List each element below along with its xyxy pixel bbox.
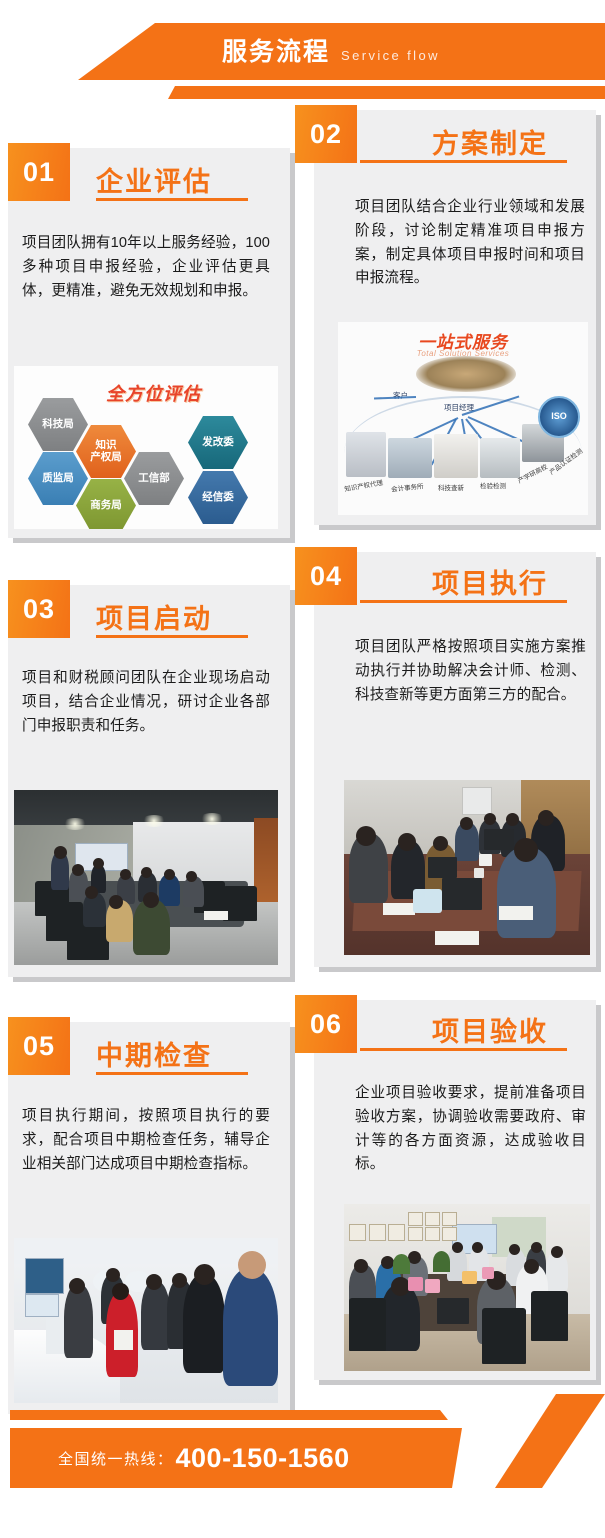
hex-label: 质监局	[42, 473, 74, 485]
hex-node-fagai-wei: 发改委	[188, 416, 248, 469]
hex-label: 工信部	[138, 473, 170, 485]
step-title-01: 企业评估	[96, 160, 212, 199]
step-number-badge-02: 02	[295, 105, 357, 163]
step-number-badge-06: 06	[295, 995, 357, 1053]
page-subtitle: Service flow	[341, 33, 440, 79]
page-header: 服务流程 Service flow	[0, 0, 605, 108]
step-body-03: 项目和财税顾问团队在企业现场启动项目，结合企业情况，研讨企业各部门申报职责和任务…	[22, 667, 270, 738]
hex-node-zhijian-ju: 质监局	[28, 452, 88, 505]
hotline-label: 全国统一热线：	[58, 1448, 174, 1469]
step-body-02: 项目团队结合企业行业领域和发展阶段，讨论制定精准项目申报方案，制定具体项目申报时…	[355, 196, 585, 291]
hex-label: 科技局	[42, 419, 74, 431]
step-body-06: 企业项目验收要求，提前准备项目验收方案，协调验收需要政府、审计等的各方面资源，达…	[355, 1082, 586, 1177]
conference-room-kickoff-photo	[14, 790, 278, 965]
title-underline-02	[360, 160, 567, 163]
node-tech-novelty-search	[434, 434, 478, 478]
meeting-hub-photo	[416, 356, 516, 392]
title-underline-01	[96, 198, 248, 201]
hex-node-gongxin-bu: 工信部	[124, 452, 184, 505]
oss-caption-novelty-search: 科技查新	[438, 482, 464, 492]
hex-node-keji-ju: 科技局	[28, 398, 88, 451]
node-inspection-testing	[480, 438, 520, 478]
step-body-05: 项目执行期间，按照项目执行的要求，配合项目中期检查任务，辅导企业相关部门达成项目…	[22, 1105, 270, 1176]
iso-certification-seal-icon: ISO	[538, 396, 580, 438]
step-body-04: 项目团队严格按照项目实施方案推动执行并协助解决会计师、检测、科技查新等更方面第三…	[355, 636, 586, 707]
node-accounting-firm	[388, 438, 432, 478]
page-footer: 全国统一热线： 400-150-1560	[0, 1410, 605, 1502]
footer-accent-bar	[10, 1410, 605, 1420]
header-orange-accent-bar	[0, 86, 605, 99]
step-number-badge-01: 01	[8, 143, 70, 201]
title-underline-05	[96, 1072, 248, 1075]
hex-node-jingxin-wei: 经信委	[188, 471, 248, 524]
node-ip-agency	[346, 432, 386, 477]
header-title-group: 服务流程 Service flow	[222, 29, 440, 75]
team-working-laptops-photo	[344, 780, 590, 955]
hex-label: 知识产权局	[90, 440, 122, 463]
step-title-05: 中期检查	[96, 1034, 212, 1073]
one-stop-service-diagram: 一站式服务 Total Solution Services 客户 项目经理 IS…	[338, 322, 588, 515]
hex-node-zhishi-chanquan-ju: 知识产权局	[76, 425, 136, 478]
hotline-number: 400-150-1560	[176, 1443, 350, 1474]
step-number-badge-05: 05	[8, 1017, 70, 1075]
step-title-02: 方案制定	[432, 122, 548, 161]
step-body-01: 项目团队拥有10年以上服务经验，100多种项目申报经验，企业评估更具体，更精准，…	[22, 232, 270, 303]
title-underline-06	[360, 1048, 567, 1051]
hex-label: 发改委	[202, 437, 234, 449]
hex-label: 商务局	[90, 500, 122, 512]
service-flow-infographic: 服务流程 Service flow 01 企业评估 项目团队拥有10年以上服务经…	[0, 0, 605, 1538]
title-underline-03	[96, 635, 248, 638]
step-title-06: 项目验收	[432, 1010, 548, 1049]
step-number-badge-03: 03	[8, 580, 70, 638]
boardroom-acceptance-meeting-photo	[344, 1204, 590, 1371]
hex-node-shangwu-ju: 商务局	[76, 479, 136, 529]
step-title-04: 项目执行	[432, 562, 548, 601]
showroom-group-discussion-photo	[14, 1238, 278, 1403]
step-number-badge-04: 04	[295, 547, 357, 605]
oss-caption-inspection: 检验检测	[480, 480, 506, 490]
hotline-group: 全国统一热线： 400-150-1560	[58, 1428, 350, 1488]
comprehensive-assessment-hexagon-diagram: 全方位评估 科技局 知识产权局 质监局 工信部 商务局 发改委 经信委	[14, 366, 278, 529]
title-underline-04	[360, 600, 567, 603]
hex-label: 经信委	[202, 492, 234, 504]
hexagon-diagram-title: 全方位评估	[106, 380, 201, 406]
page-title: 服务流程	[222, 29, 330, 75]
step-title-03: 项目启动	[96, 597, 212, 636]
